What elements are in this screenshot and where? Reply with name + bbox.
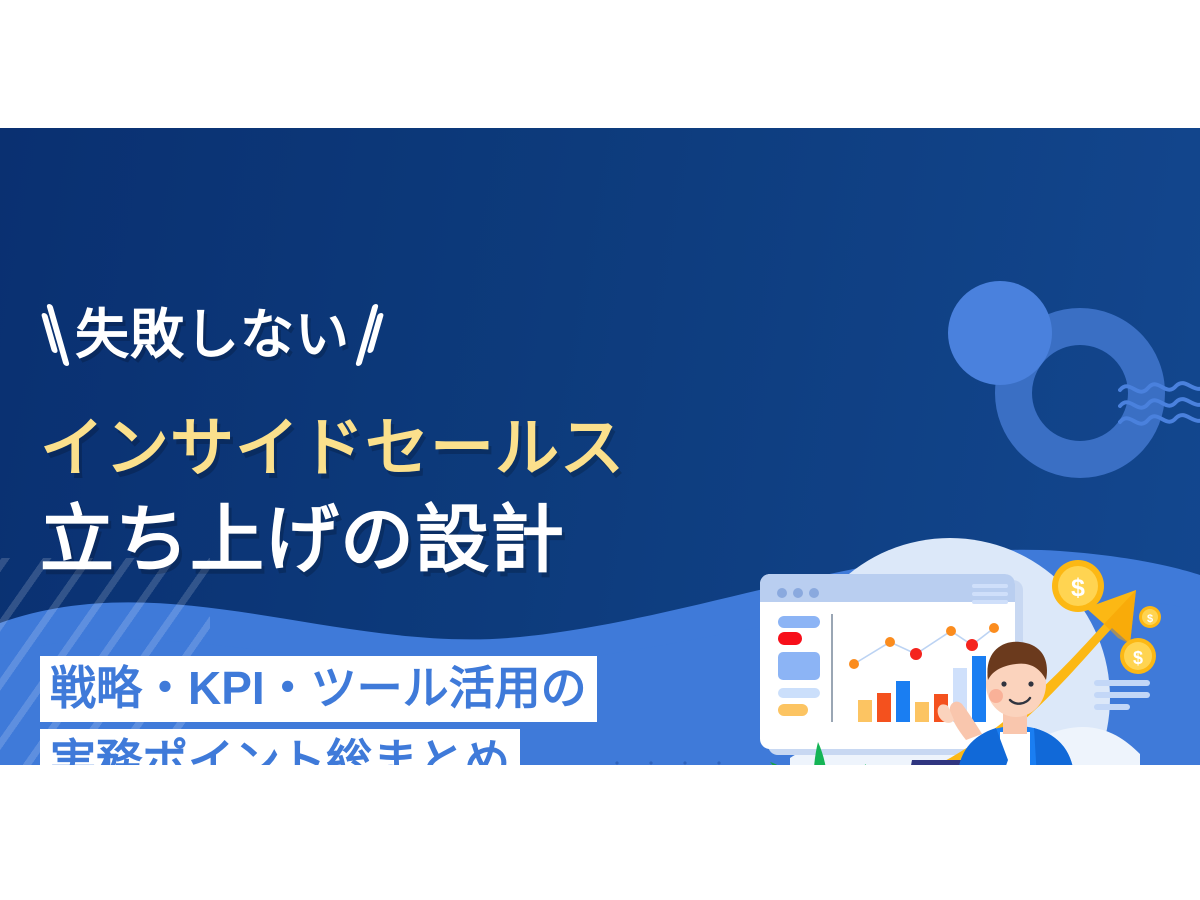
double-forward-slash-icon [364,304,381,366]
banner-canvas: $ $ $ [0,0,1200,900]
kicker-row: 失敗しない [44,304,381,366]
subtitle-line-2: 実務ポイント総まとめ [40,729,520,765]
solid-circle-icon [948,281,1052,385]
title-line-primary: インサイドセールス [40,416,625,480]
double-backslash-icon [44,304,61,366]
svg-text:$: $ [1071,574,1085,602]
svg-text:$: $ [1133,648,1143,668]
wavy-lines-icon [1118,378,1200,430]
kicker-text: 失敗しない [75,308,350,362]
businessman-dashboard-growth-illustration: $ $ $ [700,528,1200,765]
subtitle-line-1: 戦略・KPI・ツール活用の [40,656,597,722]
title-line-secondary: 立ち上げの設計 [40,503,565,577]
hero-banner: $ $ $ [0,128,1200,765]
svg-text:$: $ [1147,613,1153,625]
